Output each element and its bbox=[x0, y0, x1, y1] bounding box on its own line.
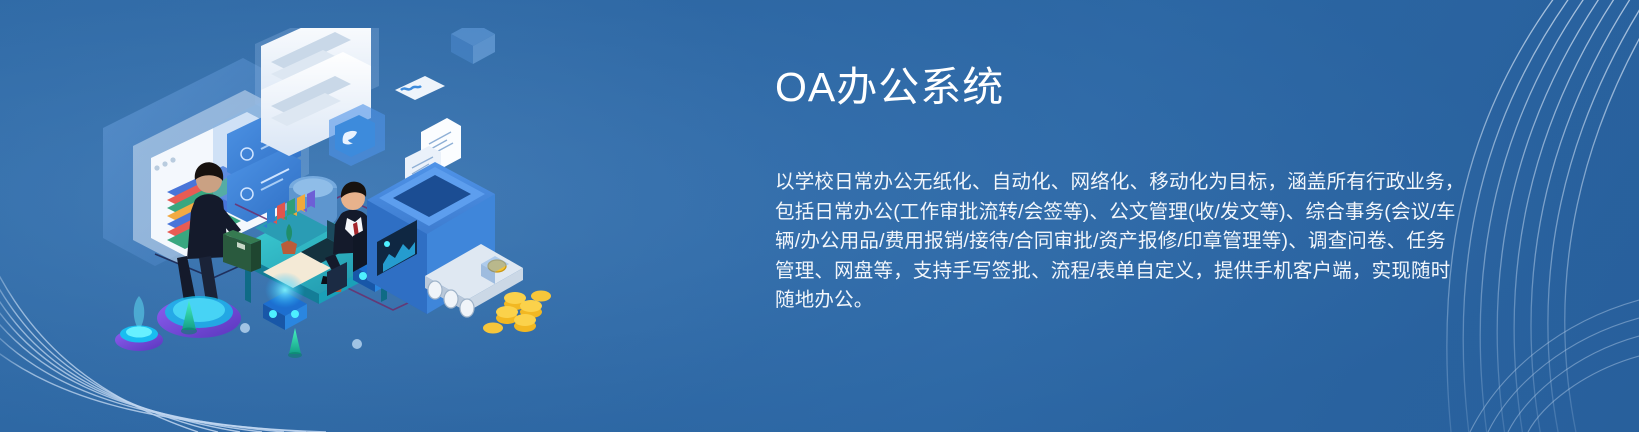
description-line-4: 管理、网盘等，支持手写签批、流程/表单自定义，提供手机客户端，实现随时 bbox=[775, 257, 1465, 287]
description-line-2: 包括日常办公(工作审批流转/会签等)、公文管理(收/发文等)、综合事务(会议/车 bbox=[775, 198, 1465, 228]
description-line-3: 辆/办公用品/费用报销/接待/合同审批/资产报修/印章管理等)、调查问卷、任务 bbox=[775, 227, 1465, 257]
isometric-office-illustration bbox=[95, 28, 565, 368]
oa-banner: OA办公系统 以学校日常办公无纸化、自动化、网络化、移动化为目标，涵盖所有行政业… bbox=[0, 0, 1639, 432]
right-curve-bundle bbox=[1447, 0, 1639, 432]
foreground-props bbox=[115, 296, 362, 358]
page-title: OA办公系统 bbox=[775, 62, 1475, 112]
chat-cards bbox=[255, 28, 385, 166]
banner-text-column: OA办公系统 以学校日常办公无纸化、自动化、网络化、移动化为目标，涵盖所有行政业… bbox=[775, 62, 1475, 316]
description-line-1: 以学校日常办公无纸化、自动化、网络化、移动化为目标，涵盖所有行政业务， bbox=[775, 168, 1465, 198]
right-lower-curve-bundle bbox=[1470, 300, 1639, 432]
banner-description: 以学校日常办公无纸化、自动化、网络化、移动化为目标，涵盖所有行政业务， 包括日常… bbox=[775, 168, 1465, 316]
document-machine bbox=[367, 28, 551, 334]
description-line-5: 随地办公。 bbox=[775, 286, 1465, 316]
